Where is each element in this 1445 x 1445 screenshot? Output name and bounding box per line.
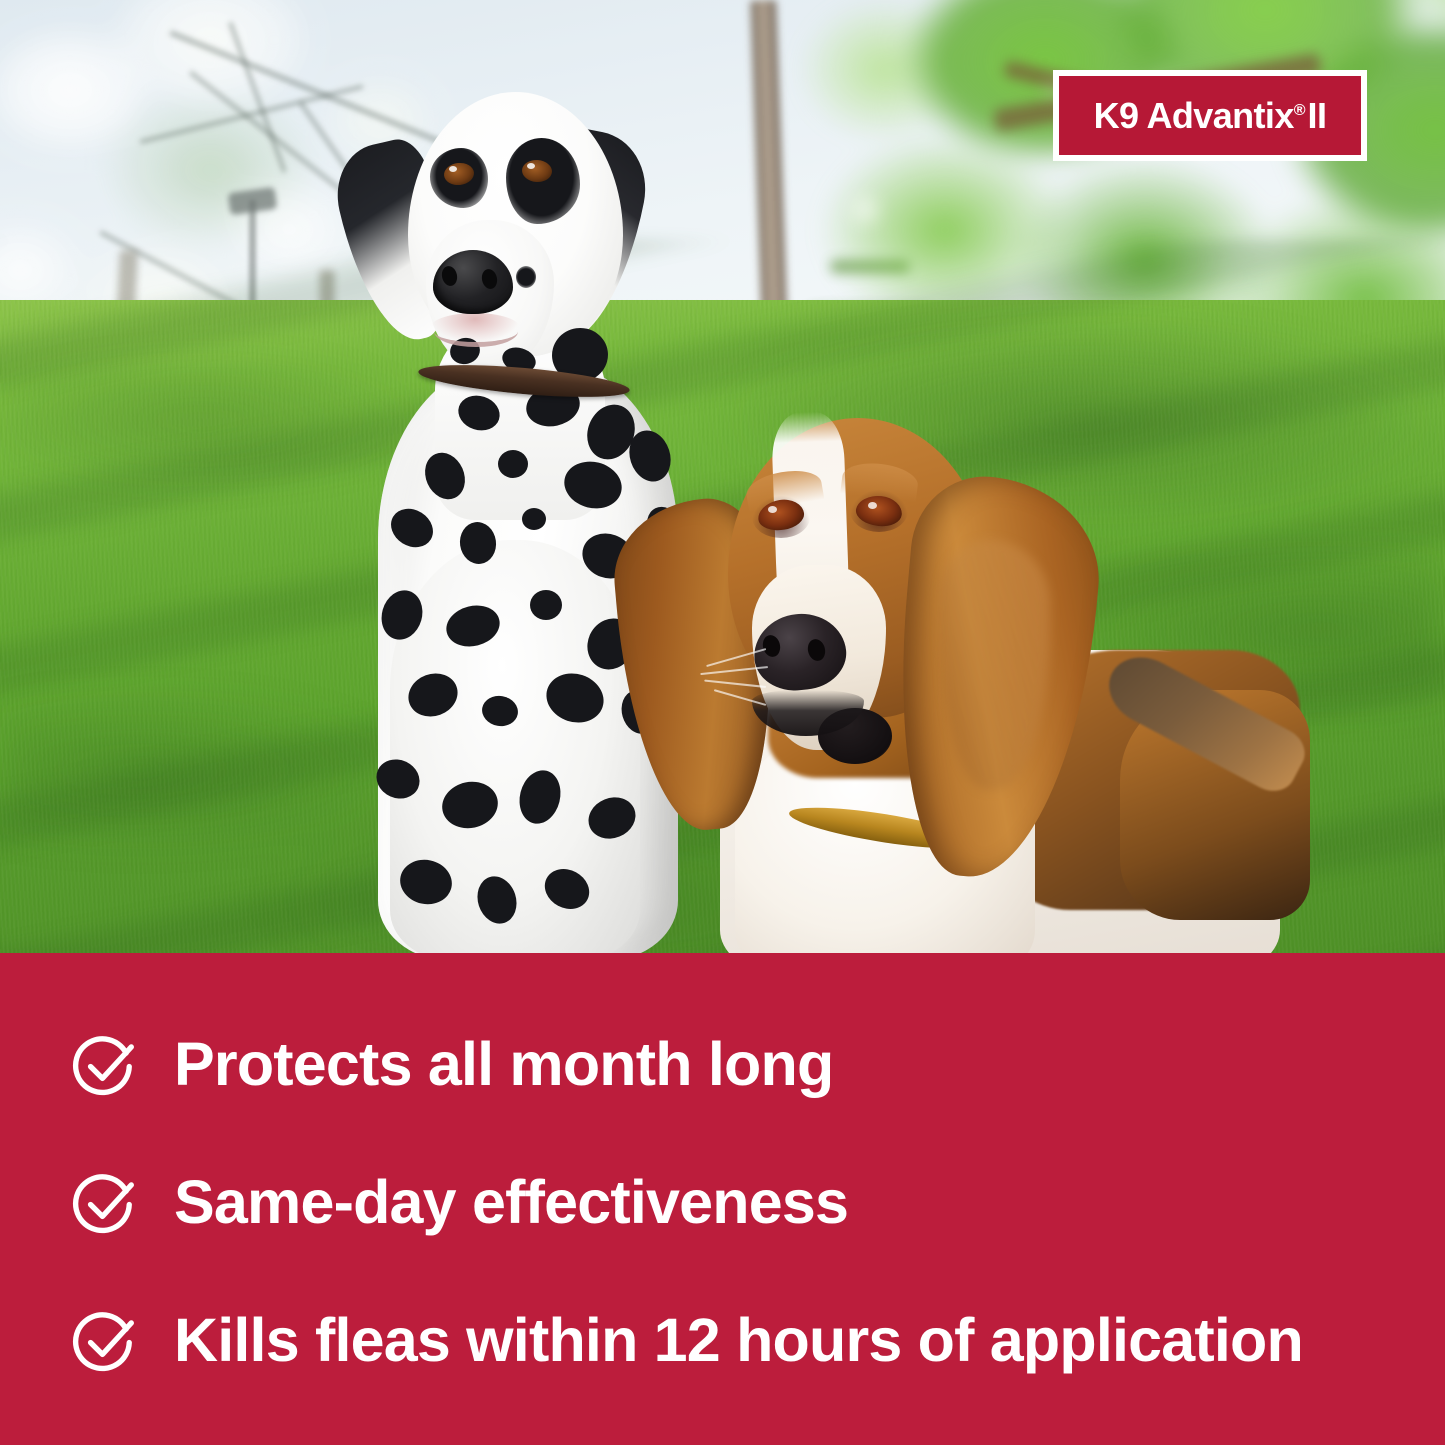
k9-advantix-logo: K9 Advantix®II <box>1053 70 1367 161</box>
dalmatian-eye-highlight <box>527 163 535 169</box>
logo-plate: K9 Advantix®II <box>1059 76 1361 155</box>
dalmatian-eye-highlight <box>449 166 457 172</box>
benefit-item: Same-day effectiveness <box>72 1145 1385 1261</box>
dalmatian-face-patch <box>516 266 536 288</box>
check-circle-icon <box>72 1170 138 1236</box>
benefit-label: Protects all month long <box>174 1033 833 1096</box>
dalmatian-mouth <box>434 316 518 347</box>
hero-photo: K9 Advantix®II <box>0 0 1445 953</box>
benefit-item: Protects all month long <box>72 1007 1385 1123</box>
basset-eye-highlight <box>768 506 777 513</box>
benefit-label: Same-day effectiveness <box>174 1171 848 1234</box>
registered-mark-icon: ® <box>1294 102 1306 119</box>
benefits-panel: Protects all month long Same-day effecti… <box>0 953 1445 1445</box>
benefit-item: Kills fleas within 12 hours of applicati… <box>72 1283 1385 1399</box>
product-banner: K9 Advantix®II Protects all month long S… <box>0 0 1445 1445</box>
logo-wordmark: K9 Advantix®II <box>1094 98 1327 134</box>
basset-hound-dog <box>600 390 1300 953</box>
logo-numeral: II <box>1308 95 1327 136</box>
benefit-label: Kills fleas within 12 hours of applicati… <box>174 1309 1303 1372</box>
check-circle-icon <box>72 1308 138 1374</box>
basset-eye-highlight <box>868 502 877 509</box>
logo-brand-name: K9 Advantix <box>1094 95 1294 136</box>
check-circle-icon <box>72 1032 138 1098</box>
